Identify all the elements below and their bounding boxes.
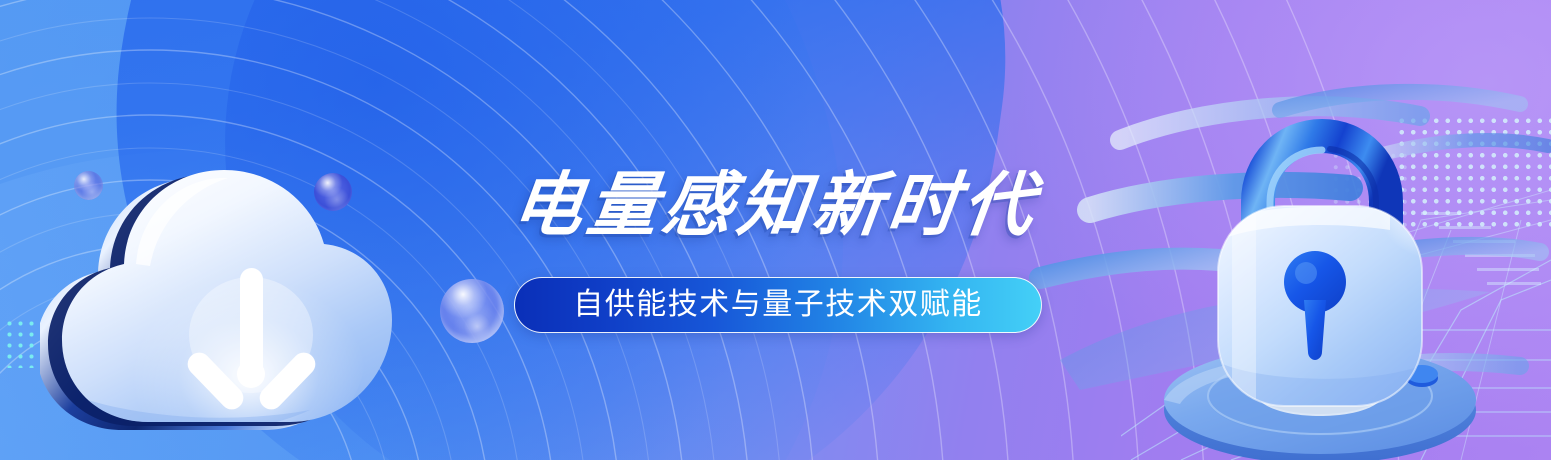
subtitle-text: 自供能技术与量子技术双赋能 [573,289,983,321]
page-title: 电量感知新时代 [0,166,1551,244]
banner-text-block: 电量感知新时代 自供能技术与量子技术双赋能 [0,0,1551,460]
promo-banner: 电量感知新时代 自供能技术与量子技术双赋能 [0,0,1551,460]
subtitle-pill: 自供能技术与量子技术双赋能 [514,277,1042,333]
